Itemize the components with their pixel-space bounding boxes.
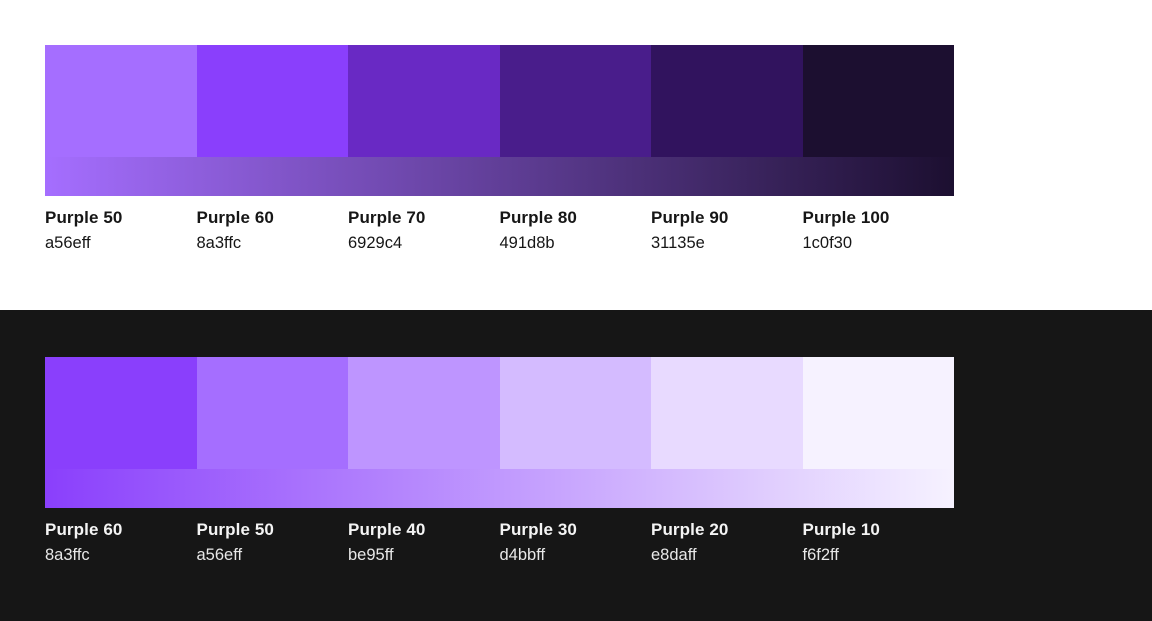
gradient-strip	[45, 157, 954, 196]
swatch-label-row-dark: Purple 60 8a3ffc Purple 50 a56eff Purple…	[45, 518, 954, 568]
swatch-label: Purple 50 a56eff	[197, 518, 349, 568]
color-swatch[interactable]	[45, 357, 197, 469]
swatch-label-hex: be95ff	[348, 542, 500, 568]
purple-dark-palette: Purple 60 8a3ffc Purple 50 a56eff Purple…	[45, 357, 954, 568]
color-swatch[interactable]	[348, 357, 500, 469]
swatch-label-name: Purple 10	[803, 518, 955, 542]
color-swatch[interactable]	[197, 45, 349, 157]
color-swatch[interactable]	[45, 45, 197, 157]
swatch-label-name: Purple 90	[651, 206, 803, 230]
swatch-label: Purple 80 491d8b	[500, 206, 652, 256]
swatch-label-name: Purple 60	[197, 206, 349, 230]
swatch-label-name: Purple 30	[500, 518, 652, 542]
swatch-label-row-light: Purple 50 a56eff Purple 60 8a3ffc Purple…	[45, 206, 954, 256]
swatch-label: Purple 60 8a3ffc	[45, 518, 197, 568]
color-swatch[interactable]	[348, 45, 500, 157]
color-swatch[interactable]	[803, 357, 955, 469]
swatch-label-name: Purple 100	[803, 206, 955, 230]
color-swatch[interactable]	[651, 357, 803, 469]
swatch-label: Purple 90 31135e	[651, 206, 803, 256]
swatch-label-name: Purple 80	[500, 206, 652, 230]
swatch-row-dark	[45, 357, 954, 469]
swatch-label-hex: 8a3ffc	[197, 230, 349, 256]
swatch-label-name: Purple 20	[651, 518, 803, 542]
color-swatch[interactable]	[500, 357, 652, 469]
swatch-label-hex: 31135e	[651, 230, 803, 256]
swatch-label: Purple 60 8a3ffc	[197, 206, 349, 256]
swatch-label: Purple 40 be95ff	[348, 518, 500, 568]
swatch-label: Purple 10 f6f2ff	[803, 518, 955, 568]
swatch-label-hex: 491d8b	[500, 230, 652, 256]
swatch-label: Purple 100 1c0f30	[803, 206, 955, 256]
swatch-label-hex: a56eff	[197, 542, 349, 568]
color-swatch[interactable]	[803, 45, 955, 157]
swatch-label: Purple 50 a56eff	[45, 206, 197, 256]
dark-theme-panel: Purple 60 8a3ffc Purple 50 a56eff Purple…	[0, 310, 1152, 621]
swatch-label: Purple 20 e8daff	[651, 518, 803, 568]
swatch-label-hex: 1c0f30	[803, 230, 955, 256]
swatch-label-name: Purple 40	[348, 518, 500, 542]
swatch-label-hex: e8daff	[651, 542, 803, 568]
gradient-strip	[45, 469, 954, 508]
color-swatch[interactable]	[500, 45, 652, 157]
swatch-label-name: Purple 50	[45, 206, 197, 230]
swatch-label-hex: 6929c4	[348, 230, 500, 256]
swatch-label: Purple 30 d4bbff	[500, 518, 652, 568]
light-theme-panel: Purple 50 a56eff Purple 60 8a3ffc Purple…	[0, 0, 1152, 310]
purple-light-palette: Purple 50 a56eff Purple 60 8a3ffc Purple…	[45, 45, 954, 256]
color-swatch[interactable]	[651, 45, 803, 157]
swatch-label-name: Purple 50	[197, 518, 349, 542]
swatch-label-name: Purple 60	[45, 518, 197, 542]
color-swatch[interactable]	[197, 357, 349, 469]
swatch-label-hex: 8a3ffc	[45, 542, 197, 568]
swatch-label-hex: f6f2ff	[803, 542, 955, 568]
swatch-label-hex: d4bbff	[500, 542, 652, 568]
swatch-label: Purple 70 6929c4	[348, 206, 500, 256]
swatch-label-hex: a56eff	[45, 230, 197, 256]
swatch-label-name: Purple 70	[348, 206, 500, 230]
swatch-row-light	[45, 45, 954, 157]
